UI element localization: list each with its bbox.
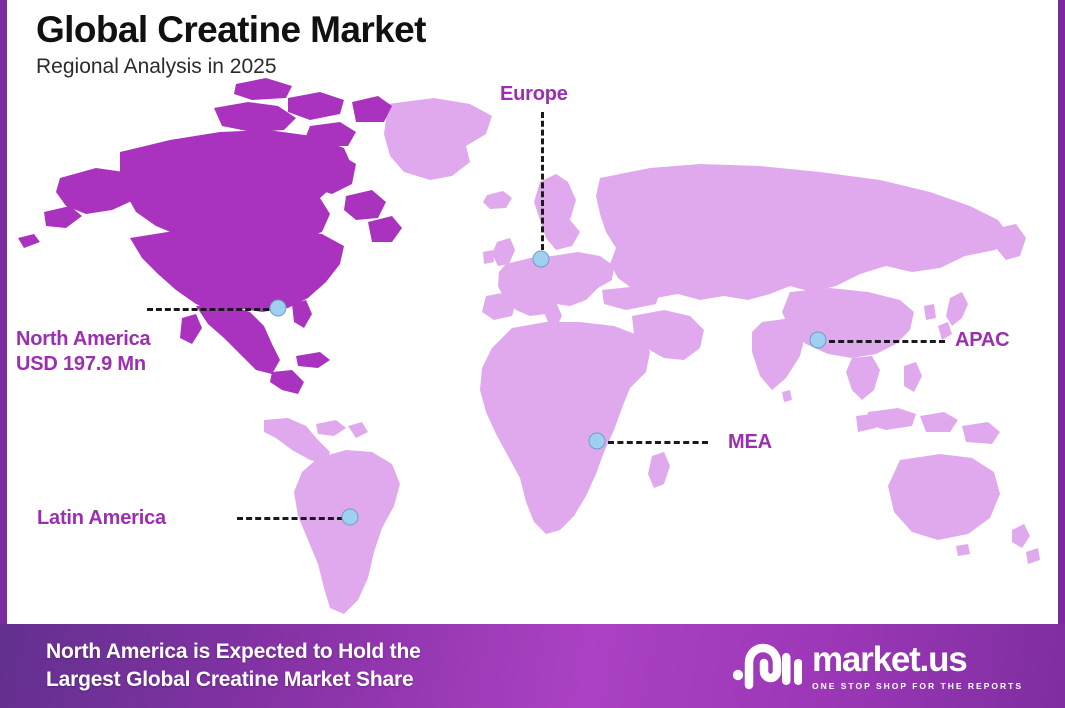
region-value-north-america: USD 197.9 Mn	[16, 352, 150, 377]
logo-mark-icon	[730, 641, 802, 691]
connector-apac	[829, 340, 945, 343]
region-label-mea: MEA	[728, 430, 772, 455]
banner-headline-line2: Largest Global Creatine Market Share	[46, 666, 421, 694]
header: Global Creatine Market Regional Analysis…	[36, 10, 426, 78]
region-name-apac: APAC	[955, 329, 1009, 351]
page-title: Global Creatine Market	[36, 10, 426, 49]
banner-headline: North America is Expected to Hold the La…	[46, 638, 421, 693]
marker-mea[interactable]	[589, 433, 606, 450]
region-label-latin-america: Latin America	[37, 506, 166, 531]
bottom-banner: North America is Expected to Hold the La…	[0, 624, 1065, 708]
region-name-europe: Europe	[500, 83, 568, 105]
connector-mea	[608, 441, 708, 444]
banner-headline-line1: North America is Expected to Hold the	[46, 638, 421, 666]
connector-latin-america	[237, 517, 343, 520]
marker-apac[interactable]	[810, 332, 827, 349]
region-name-mea: MEA	[728, 431, 772, 453]
infographic-poster: Global Creatine Market Regional Analysis…	[0, 0, 1065, 708]
left-border-rail	[0, 0, 7, 708]
page-subtitle: Regional Analysis in 2025	[36, 55, 426, 78]
world-map-svg	[0, 60, 1065, 630]
logo-tagline: ONE STOP SHOP FOR THE REPORTS	[812, 682, 1023, 691]
region-name-north-america: North America	[16, 328, 150, 350]
region-name-latin-america: Latin America	[37, 507, 166, 529]
region-label-north-america: North America USD 197.9 Mn	[16, 327, 150, 377]
connector-north-america	[147, 308, 269, 311]
connector-europe	[541, 112, 544, 250]
market-us-logo[interactable]: market.us ONE STOP SHOP FOR THE REPORTS	[730, 641, 1039, 691]
marker-latin-america[interactable]	[342, 509, 359, 526]
right-border-rail	[1058, 0, 1065, 708]
logo-name: market.us	[812, 642, 1023, 677]
map-land-other	[264, 98, 1040, 614]
logo-wordmark: market.us ONE STOP SHOP FOR THE REPORTS	[812, 642, 1023, 691]
marker-europe[interactable]	[533, 251, 550, 268]
region-label-europe: Europe	[500, 82, 568, 107]
marker-north-america[interactable]	[270, 300, 287, 317]
world-map-container	[0, 60, 1065, 630]
region-label-apac: APAC	[955, 328, 1009, 353]
